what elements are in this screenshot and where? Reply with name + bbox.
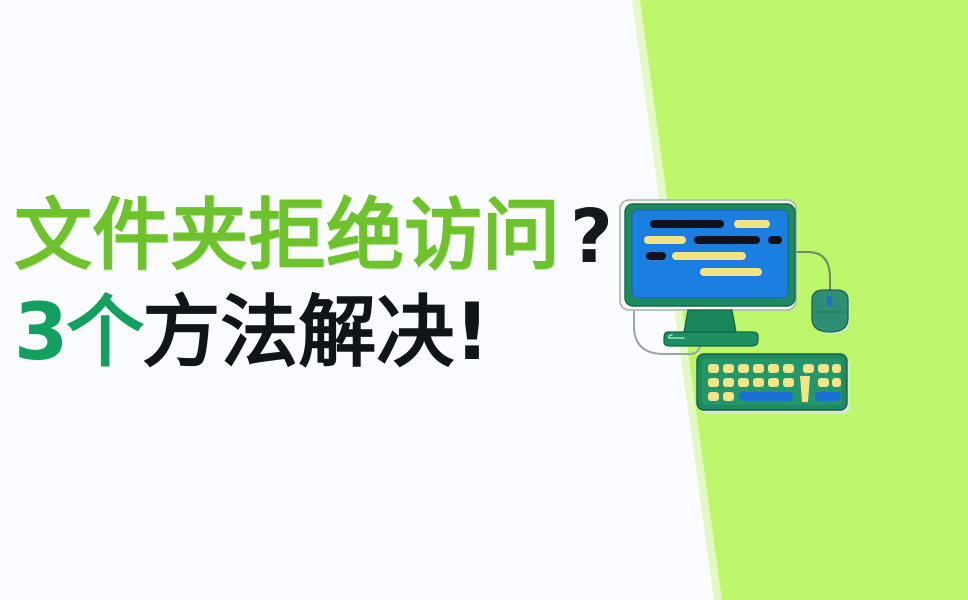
desktop-computer-illustration	[612, 186, 882, 436]
headline-exclamation-mark: !	[454, 288, 490, 378]
screen-bar-yellow	[734, 220, 770, 228]
monitor	[620, 200, 796, 310]
monitor-stand	[664, 310, 758, 346]
key	[832, 378, 841, 387]
headline-method-text: 方法解决	[142, 288, 454, 378]
key	[818, 378, 829, 387]
key	[818, 364, 829, 373]
screen-bar-dark	[768, 236, 782, 244]
screen-bar-yellow	[672, 252, 746, 260]
headline-main-text: 文件夹拒绝访问	[14, 191, 560, 281]
screen-bar-dark	[650, 220, 724, 228]
headline-block: 文件夹拒绝访问? 3个方法解决!	[14, 196, 634, 372]
screen-bar-yellow	[644, 236, 686, 244]
stand-base	[664, 332, 758, 346]
mouse-wheel	[827, 296, 832, 307]
key	[708, 392, 719, 401]
key	[738, 378, 749, 387]
headline-count-text: 3个	[14, 288, 142, 378]
mouse	[812, 290, 850, 334]
key	[723, 378, 734, 387]
stand-neck	[684, 310, 736, 332]
key	[753, 378, 764, 387]
key	[783, 378, 794, 387]
key	[738, 364, 749, 373]
key	[803, 364, 814, 373]
key-blue-right	[815, 392, 841, 401]
key	[723, 392, 734, 401]
key-spacebar	[739, 392, 793, 401]
key	[783, 364, 794, 373]
screen-bar-dark	[646, 252, 666, 260]
key	[753, 364, 764, 373]
keyboard	[697, 354, 850, 414]
key	[723, 364, 734, 373]
key	[832, 364, 841, 373]
headline-question-mark: ?	[560, 194, 613, 280]
key	[768, 364, 779, 373]
key	[768, 378, 779, 387]
keyboard-row-1	[708, 364, 841, 373]
key	[708, 378, 719, 387]
screen-bar-yellow	[700, 268, 762, 276]
poster-canvas: 文件夹拒绝访问? 3个方法解决!	[0, 0, 968, 600]
keyboard-row-2	[708, 378, 841, 387]
screen-bar-dark	[694, 236, 760, 244]
key	[708, 364, 719, 373]
headline-line-1: 文件夹拒绝访问?	[14, 196, 634, 275]
headline-line-2: 3个方法解决!	[14, 293, 634, 372]
